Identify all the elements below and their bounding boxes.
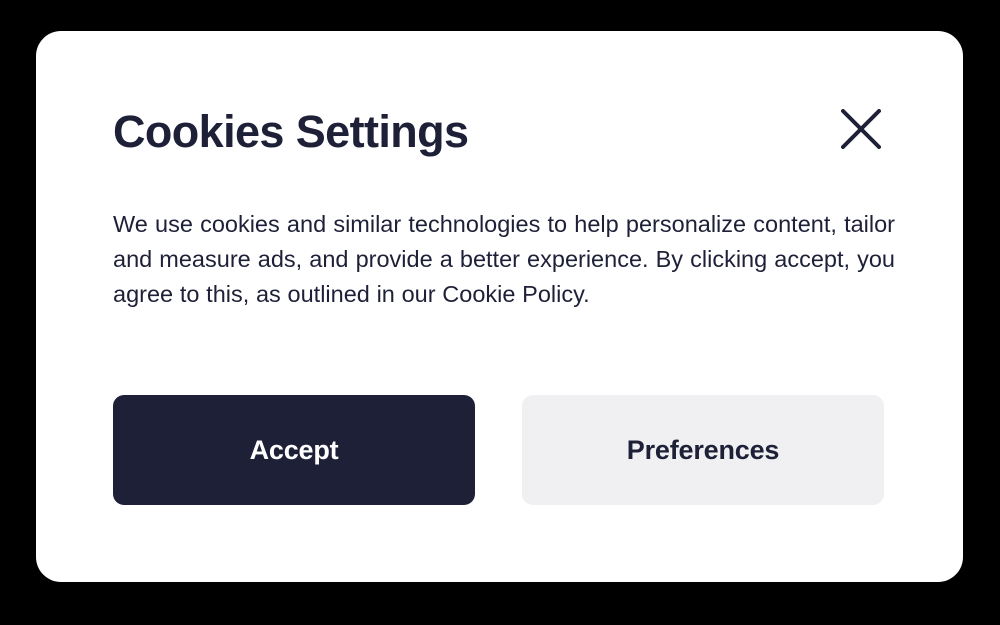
page-title: Cookies Settings [113,104,468,160]
dialog-header: Cookies Settings [113,104,922,166]
screen-background: Cookies Settings We use cookies and simi… [0,0,1000,625]
cookies-settings-dialog: Cookies Settings We use cookies and simi… [36,31,963,582]
dialog-actions: Accept Preferences [113,395,884,505]
close-button[interactable] [839,107,883,151]
accept-button[interactable]: Accept [113,395,475,505]
close-icon [841,109,881,149]
dialog-description: We use cookies and similar technologies … [113,207,895,312]
preferences-button[interactable]: Preferences [522,395,884,505]
